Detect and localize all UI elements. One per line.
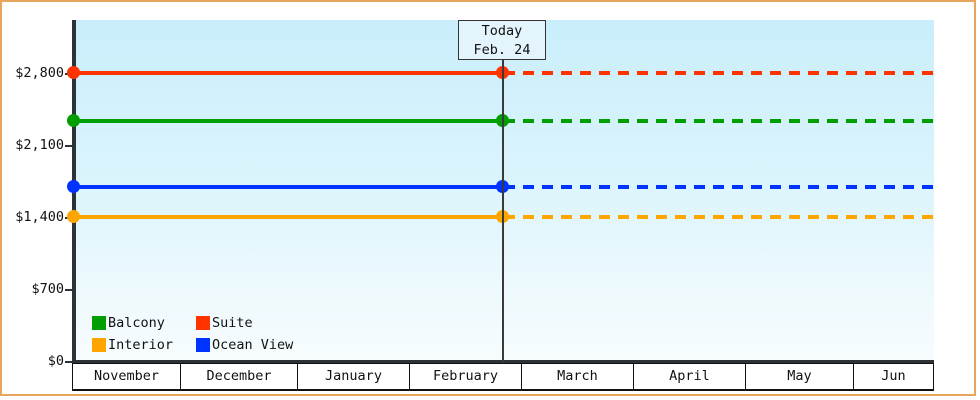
series-line-suite — [74, 71, 504, 75]
legend-label-interior: Interior — [108, 337, 173, 353]
series-dash-balcony — [504, 119, 934, 123]
x-axis-label-may: May — [745, 363, 853, 389]
series-dash-suite — [504, 71, 934, 75]
legend-label-suite: Suite — [212, 315, 253, 331]
series-line-ocean-view — [74, 185, 504, 189]
legend-row-1: Balcony Suite — [92, 312, 301, 334]
legend-swatch-balcony — [92, 316, 106, 330]
series-point-interior-start — [67, 210, 80, 223]
series-point-ocean-view-start — [67, 180, 80, 193]
y-tick-700 — [65, 289, 74, 291]
series-dash-ocean-view — [504, 185, 934, 189]
series-dash-interior — [504, 215, 934, 219]
legend-item-balcony: Balcony — [92, 315, 188, 331]
x-axis-label-november: November — [72, 363, 180, 389]
x-axis-label-jun: Jun — [853, 363, 934, 389]
legend-label-ocean-view: Ocean View — [212, 337, 293, 353]
x-axis-label-january: January — [297, 363, 409, 389]
y-tick-label-0: $0 — [2, 353, 64, 369]
today-vertical-line — [502, 46, 504, 363]
x-axis-label-march: March — [521, 363, 633, 389]
series-line-interior — [74, 215, 504, 219]
y-tick-label-2100: $2,100 — [2, 137, 64, 153]
legend-swatch-suite — [196, 316, 210, 330]
series-line-balcony — [74, 119, 504, 123]
legend-item-suite: Suite — [196, 315, 253, 331]
legend-row-2: Interior Ocean View — [92, 334, 301, 356]
today-annotation-box: Today Feb. 24 — [458, 20, 546, 60]
legend-swatch-ocean-view — [196, 338, 210, 352]
y-tick-2100 — [65, 145, 74, 147]
chart-legend: Balcony Suite Interior Ocean View — [92, 312, 301, 356]
x-axis-month-labels: November December January February March… — [72, 363, 934, 391]
legend-label-balcony: Balcony — [108, 315, 165, 331]
today-annotation-line2: Feb. 24 — [459, 41, 545, 60]
x-axis-label-april: April — [633, 363, 745, 389]
y-tick-label-1400: $1,400 — [2, 209, 64, 225]
legend-item-ocean-view: Ocean View — [196, 337, 293, 353]
legend-item-interior: Interior — [92, 337, 188, 353]
today-annotation-line1: Today — [459, 22, 545, 41]
y-tick-label-2800: $2,800 — [2, 65, 64, 81]
chart-frame: $0 $700 $1,400 $2,100 $2,800 Today Feb. … — [0, 0, 976, 396]
series-point-balcony-start — [67, 114, 80, 127]
y-tick-label-700: $700 — [2, 281, 64, 297]
x-axis-label-december: December — [180, 363, 297, 389]
legend-swatch-interior — [92, 338, 106, 352]
x-axis-label-february: February — [409, 363, 521, 389]
series-point-suite-start — [67, 66, 80, 79]
